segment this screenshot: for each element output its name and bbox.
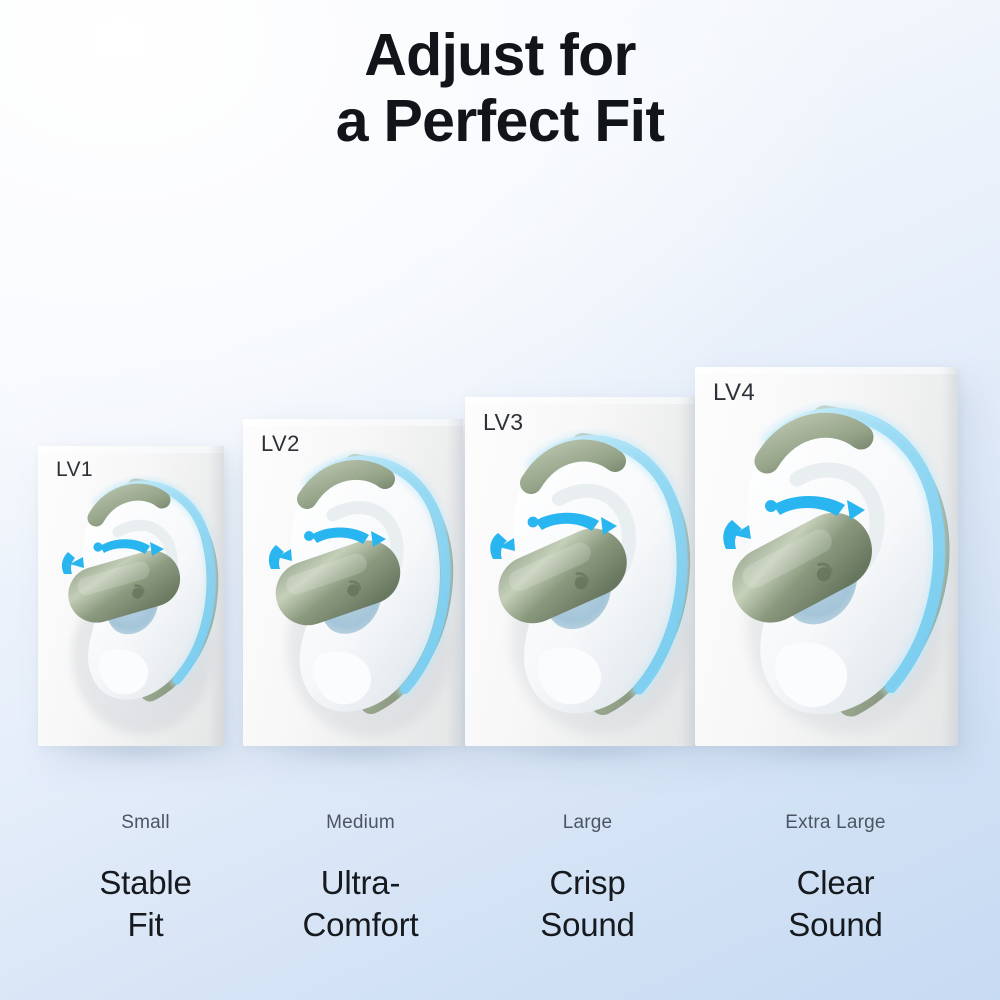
feature-label-extra-large: Clear Sound [723,862,948,946]
size-label-extra-large: Extra Large [723,812,948,835]
ear-earbud-graphic [243,419,463,746]
feature-line-2: Sound [540,906,634,943]
size-label-small: Small [38,812,253,835]
feature-line-1: Crisp [549,864,625,901]
ear-illustration-lv4 [695,367,958,746]
lv-label-4: LV4 [713,379,755,407]
size-label-medium: Medium [253,812,468,835]
caption-column-medium: Medium Ultra- Comfort [253,812,468,946]
feature-line-1: Ultra- [321,864,400,901]
feature-line-2: Sound [788,906,882,943]
ear-earbud-graphic [38,446,224,746]
lv-label-1: LV1 [56,458,93,482]
ear-illustration-lv3 [465,397,696,746]
caption-column-large: Large Crisp Sound [480,812,695,946]
caption-column-small: Small Stable Fit [38,812,253,946]
feature-label-large: Crisp Sound [480,862,695,946]
feature-line-1: Stable [99,864,191,901]
caption-column-extra-large: Extra Large Clear Sound [723,812,948,946]
product-feature-image: Adjust for a Perfect Fit [0,0,1000,1000]
size-label-large: Large [480,812,695,835]
feature-line-2: Fit [127,906,163,943]
feature-line-1: Clear [797,864,875,901]
feature-line-2: Comfort [303,906,419,943]
fit-panel-lv4: LV4 [695,367,958,746]
lv-label-2: LV2 [261,431,300,457]
caption-row: Small Stable Fit Medium Ultra- Comfort L… [0,812,1000,982]
fit-panel-lv3: LV3 [465,397,696,746]
feature-label-small: Stable Fit [38,862,253,946]
ear-illustration-lv1 [38,446,224,746]
fit-panel-lv1: LV1 [38,446,224,746]
ear-earbud-graphic [465,397,696,746]
fit-panel-lv2: LV2 [243,419,463,746]
feature-label-medium: Ultra- Comfort [253,862,468,946]
ear-illustration-lv2 [243,419,463,746]
lv-label-3: LV3 [483,409,523,436]
ear-earbud-graphic [695,367,958,746]
